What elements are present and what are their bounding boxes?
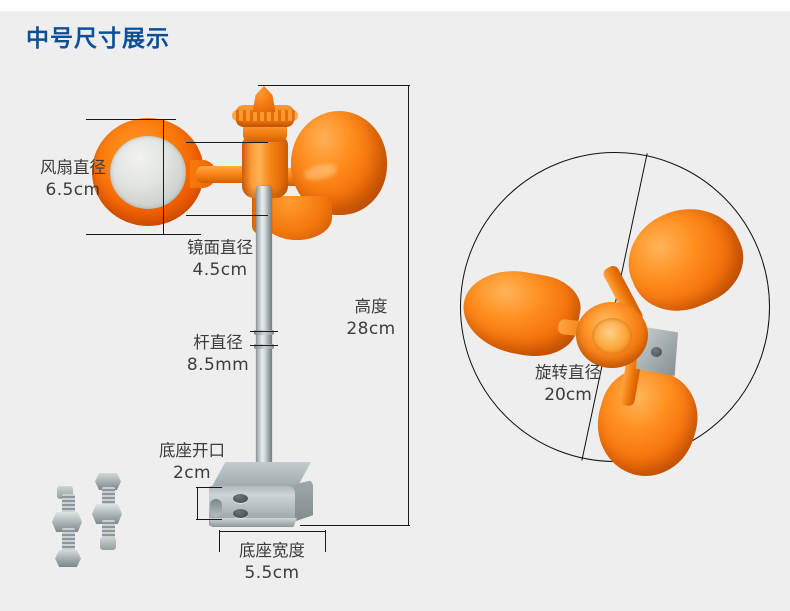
clamp-base-opening-slot — [210, 499, 222, 517]
rotation-diameter-value: 20cm — [503, 384, 633, 406]
base-opening-leader-bottom — [196, 519, 222, 520]
rotation-diameter-name: 旋转直径 — [535, 363, 601, 382]
base-width-name: 底座宽度 — [239, 541, 305, 560]
mirror-diameter-label: 镜面直径 4.5cm — [165, 237, 275, 281]
bolt-right-tip — [100, 537, 116, 550]
clamp-base-hole-upper — [233, 494, 248, 503]
height-dimension-line — [408, 85, 409, 526]
rod-diameter-value: 8.5mm — [168, 354, 268, 376]
fan-diameter-name: 风扇直径 — [40, 158, 106, 177]
rotor-hub — [576, 302, 648, 368]
height-label: 高度 28cm — [338, 296, 404, 340]
bolt-left-head — [55, 550, 81, 567]
height-leader-bottom — [300, 525, 410, 526]
base-opening-leader-top — [196, 487, 222, 488]
mirror-diameter-leader-top — [186, 142, 268, 143]
base-opening-label: 底座开口 2cm — [137, 440, 247, 484]
fan-diameter-extension — [163, 119, 164, 235]
height-name: 高度 — [355, 297, 388, 316]
fan-diameter-leader-bottom — [86, 234, 201, 235]
rod-diameter-name: 杆直径 — [193, 333, 243, 352]
base-opening-value: 2cm — [137, 462, 247, 484]
mirror-diameter-value: 4.5cm — [165, 259, 275, 281]
base-opening-dimension-line — [197, 487, 198, 520]
mirror-diameter-name: 镜面直径 — [187, 238, 253, 257]
fan-diameter-label: 风扇直径 6.5cm — [18, 157, 128, 201]
rotor-cup-lower — [262, 196, 332, 240]
rotation-diameter-inset: 旋转直径 20cm — [460, 152, 772, 464]
base-width-value: 5.5cm — [217, 562, 327, 584]
rod-diameter-label: 杆直径 8.5mm — [168, 332, 268, 376]
base-width-dimension-line — [219, 531, 326, 532]
fan-diameter-value: 6.5cm — [18, 179, 128, 201]
product-dimension-graphic: 中号尺寸展示 — [0, 0, 790, 611]
clamp-base-hole-lower — [233, 509, 248, 518]
mast-rod — [256, 186, 272, 468]
rotation-diameter-label: 旋转直径 20cm — [503, 362, 633, 406]
base-opening-name: 底座开口 — [159, 441, 225, 460]
height-value: 28cm — [338, 318, 404, 340]
height-leader-top — [258, 85, 410, 86]
mirror-diameter-leader-bottom — [186, 215, 268, 216]
base-width-label: 底座宽度 5.5cm — [217, 540, 327, 584]
main-product-figure: 风扇直径 6.5cm 镜面直径 4.5cm 杆直径 8.5mm 高度 28cm … — [0, 0, 455, 611]
clamp-base-lip — [209, 518, 297, 527]
anemometer-hub-cap — [249, 86, 279, 112]
